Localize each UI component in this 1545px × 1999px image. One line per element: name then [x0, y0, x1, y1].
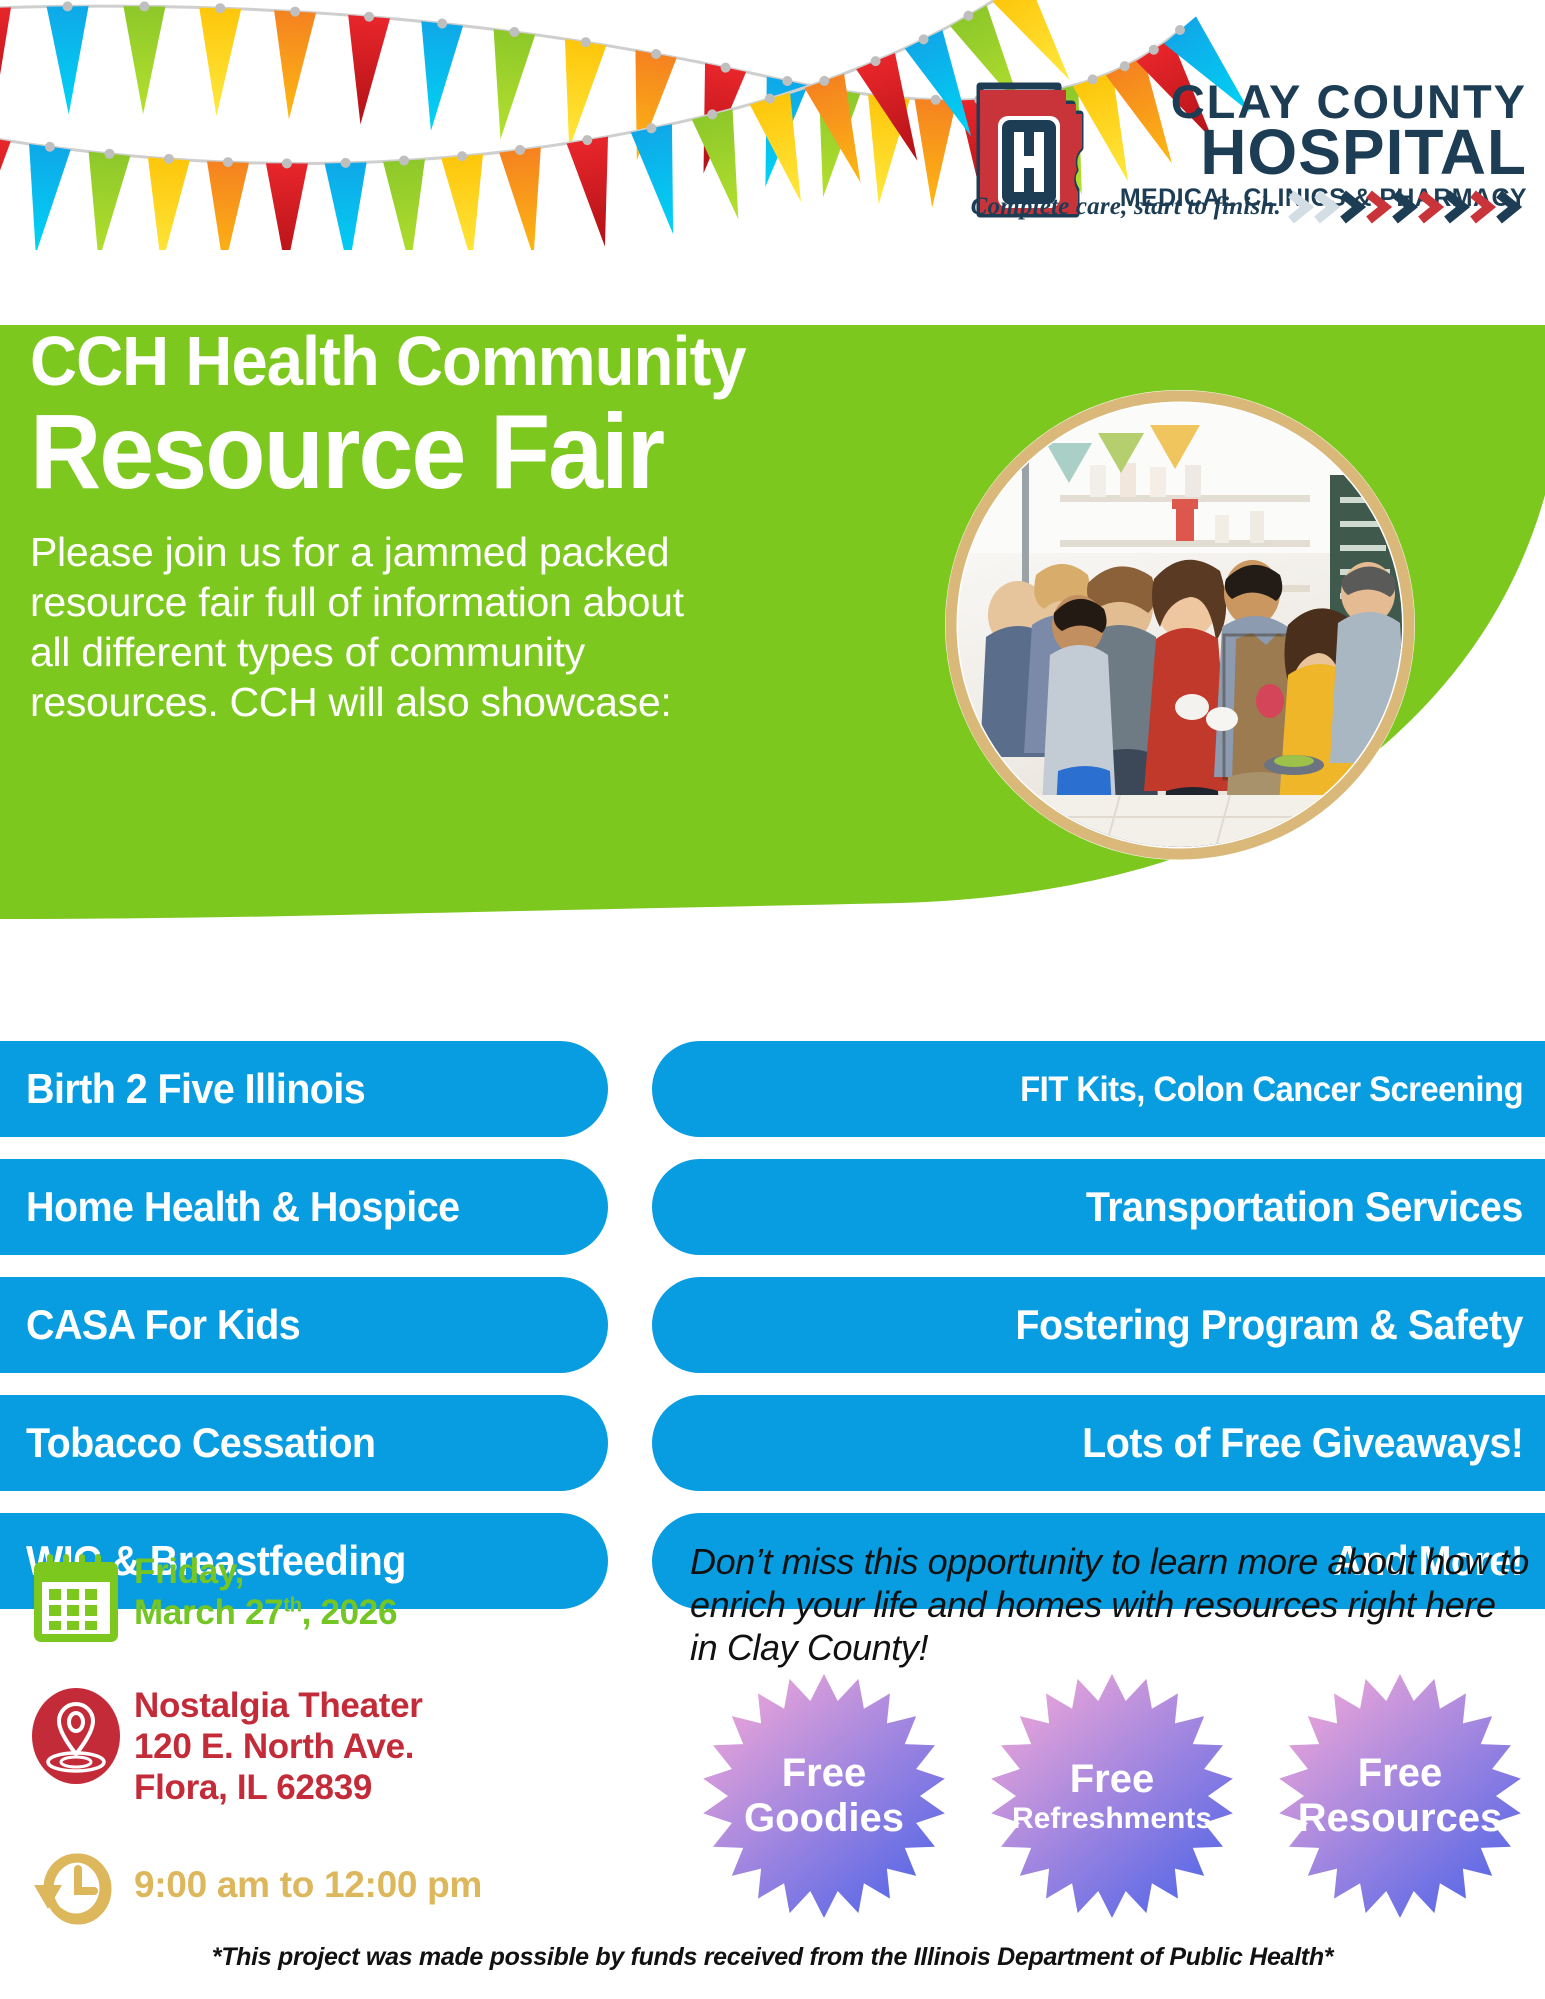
- pill-row: Birth 2 Five Illinois FIT Kits, Colon Ca…: [0, 1041, 1545, 1137]
- page-title-line-1: CCH Health Community: [30, 325, 858, 397]
- chevron-arrows-icon: [1287, 188, 1527, 226]
- event-location-row: Nostalgia Theater 120 E. North Ave. Flor…: [28, 1686, 668, 1809]
- free-badge-2: Free Resources: [1256, 1672, 1544, 1920]
- banner-content: CCH Health Community Resource Fair Pleas…: [0, 325, 920, 727]
- resource-pill-left-2[interactable]: CASA For Kids: [0, 1277, 608, 1373]
- resource-pill-right-3[interactable]: Lots of Free Giveaways!: [652, 1395, 1545, 1491]
- resource-pill-left-1[interactable]: Home Health & Hospice: [0, 1159, 608, 1255]
- pill-row: Home Health & Hospice Transportation Ser…: [0, 1159, 1545, 1255]
- event-date-weekday: Friday,: [134, 1552, 397, 1593]
- free-badge-0: Free Goodies: [680, 1672, 968, 1920]
- list-item-label: New Chiropractic Services: [51, 980, 370, 1019]
- resource-pill-right-2[interactable]: Fostering Program & Safety: [652, 1277, 1545, 1373]
- resource-pill-right-0[interactable]: FIT Kits, Colon Cancer Screening: [652, 1041, 1545, 1137]
- event-time: 9:00 am to 12:00 pm: [134, 1865, 482, 1906]
- list-item: • New Chiropractic Services: [30, 980, 410, 1019]
- map-pin-icon: [28, 1686, 124, 1786]
- resource-pill-left-0[interactable]: Birth 2 Five Illinois: [0, 1041, 608, 1137]
- logo-tagline-row: Complete care, start to finish.: [927, 188, 1527, 226]
- venue-name: Nostalgia Theater: [134, 1686, 423, 1727]
- logo-line-2: HOSPITAL: [1200, 122, 1527, 183]
- free-badge-1: Free Refreshments: [968, 1672, 1256, 1920]
- clock-icon: [28, 1843, 124, 1935]
- bullet-dot: •: [30, 988, 51, 1013]
- banner-description: Please join us for a jammed packed resou…: [30, 527, 730, 727]
- venue-citystate: Flora, IL 62839: [134, 1768, 423, 1809]
- bullet-dot: •: [440, 1011, 461, 1036]
- venue-street: 120 E. North Ave.: [134, 1727, 423, 1768]
- promo-message: Don’t miss this opportunity to learn mor…: [690, 1540, 1530, 1670]
- event-details: Friday, March 27th, 2026 Nostalgia Theat…: [28, 1552, 668, 1957]
- pill-row: Tobacco Cessation Lots of Free Giveaways…: [0, 1395, 1545, 1491]
- resource-pill-left-3[interactable]: Tobacco Cessation: [0, 1395, 608, 1491]
- list-item-label: Mammogram Info: [461, 1003, 672, 1042]
- event-date-full: March 27th, 2026: [134, 1593, 397, 1634]
- calendar-icon: [28, 1552, 124, 1648]
- event-date-row: Friday, March 27th, 2026: [28, 1552, 668, 1648]
- pill-row: CASA For Kids Fostering Program & Safety: [0, 1277, 1545, 1373]
- logo-tagline: Complete care, start to finish.: [971, 193, 1281, 221]
- funding-disclaimer: *This project was made possible by funds…: [0, 1943, 1545, 1972]
- page-title-line-2: Resource Fair: [30, 399, 858, 505]
- resource-pill-right-1[interactable]: Transportation Services: [652, 1159, 1545, 1255]
- free-badges: Free Goodies Free Refreshments: [680, 1672, 1545, 1920]
- list-item: • Mammogram Info: [440, 1003, 849, 1042]
- event-time-row: 9:00 am to 12:00 pm: [28, 1843, 668, 1935]
